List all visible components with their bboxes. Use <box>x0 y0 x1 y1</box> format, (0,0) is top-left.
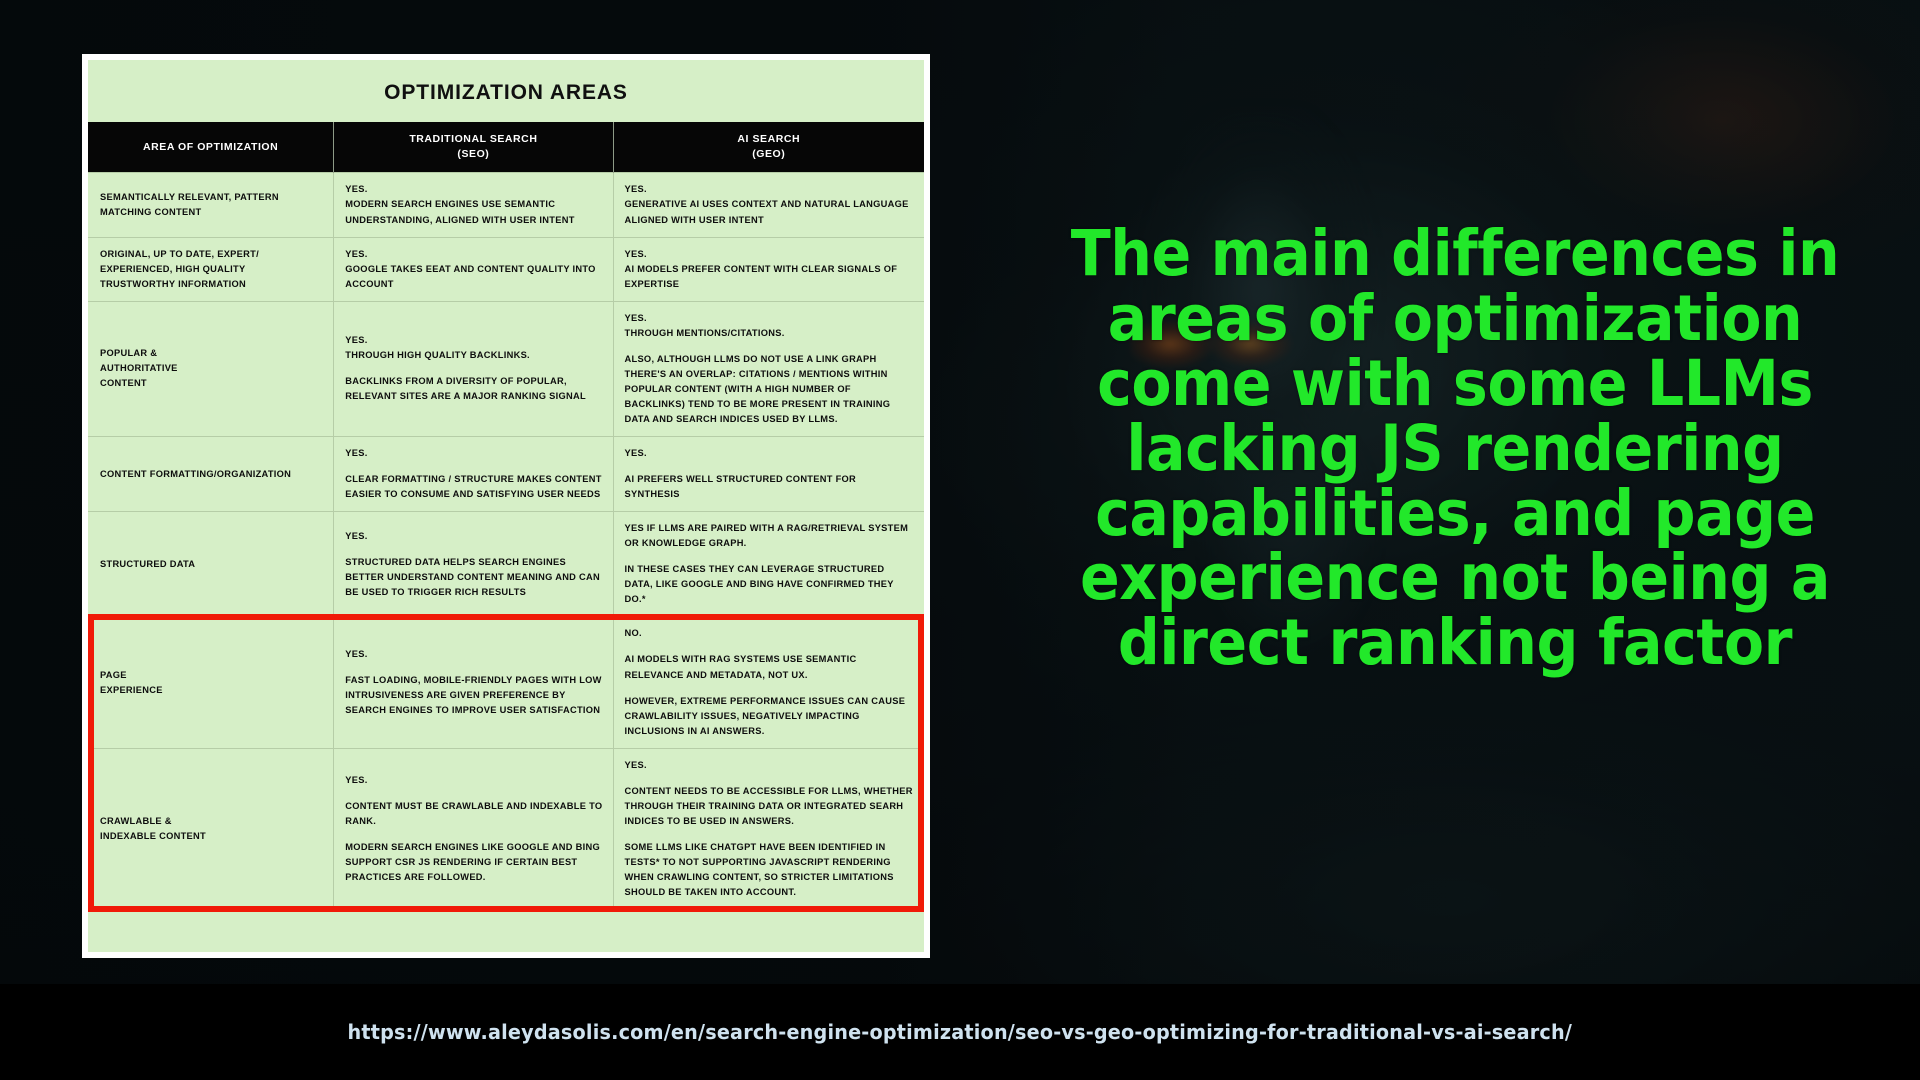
cell-paragraph: YES.THROUGH HIGH QUALITY BACKLINKS. <box>345 333 602 363</box>
row-area-label: PAGEEXPERIENCE <box>88 617 334 748</box>
row-ai-search-cell: YES.AI MODELS PREFER CONTENT WITH CLEAR … <box>613 237 924 301</box>
row-traditional-search-cell: YES.MODERN SEARCH ENGINES USE SEMANTIC U… <box>334 173 613 237</box>
row-traditional-search-cell: YES.STRUCTURED DATA HELPS SEARCH ENGINES… <box>334 512 613 617</box>
row-area-label: CONTENT FORMATTING/ORGANIZATION <box>88 437 334 512</box>
cell-paragraph: AI MODELS WITH RAG SYSTEMS USE SEMANTIC … <box>625 652 915 682</box>
optimization-table-card: OPTIMIZATION AREAS AREA OF OPTIMIZATION … <box>82 54 930 958</box>
row-traditional-search-cell: YES.CONTENT MUST BE CRAWLABLE AND INDEXA… <box>334 748 613 909</box>
row-ai-search-cell: YES.AI PREFERS WELL STRUCTURED CONTENT F… <box>613 437 924 512</box>
row-area-label: CRAWLABLE &INDEXABLE CONTENT <box>88 748 334 909</box>
table-row: PAGEEXPERIENCEYES.FAST LOADING, MOBILE-F… <box>88 617 924 748</box>
table-sheet: OPTIMIZATION AREAS AREA OF OPTIMIZATION … <box>88 60 924 952</box>
cell-paragraph: YES. <box>625 758 915 773</box>
cell-paragraph: YES IF LLMS ARE PAIRED WITH A RAG/RETRIE… <box>625 521 915 551</box>
cell-paragraph: ALSO, ALTHOUGH LLMS DO NOT USE A LINK GR… <box>625 352 915 427</box>
row-area-label: SEMANTICALLY RELEVANT, PATTERN MATCHING … <box>88 173 334 237</box>
column-header-label: TRADITIONAL SEARCH <box>409 133 537 145</box>
cell-paragraph: AI PREFERS WELL STRUCTURED CONTENT FOR S… <box>625 472 915 502</box>
cell-paragraph: STRUCTURED DATA HELPS SEARCH ENGINES BET… <box>345 555 602 600</box>
column-header-area: AREA OF OPTIMIZATION <box>88 122 334 173</box>
row-ai-search-cell: YES IF LLMS ARE PAIRED WITH A RAG/RETRIE… <box>613 512 924 617</box>
table-row: POPULAR &AUTHORITATIVECONTENTYES.THROUGH… <box>88 301 924 436</box>
headline-text: The main differences in areas of optimiz… <box>1032 222 1878 676</box>
row-area-label: ORIGINAL, UP TO DATE, EXPERT/ EXPERIENCE… <box>88 237 334 301</box>
row-traditional-search-cell: YES.FAST LOADING, MOBILE-FRIENDLY PAGES … <box>334 617 613 748</box>
cell-paragraph: YES. <box>345 529 602 544</box>
cell-paragraph: MODERN SEARCH ENGINES LIKE GOOGLE AND BI… <box>345 840 602 885</box>
cell-paragraph: YES.AI MODELS PREFER CONTENT WITH CLEAR … <box>625 247 915 292</box>
row-ai-search-cell: YES.GENERATIVE AI USES CONTEXT AND NATUR… <box>613 173 924 237</box>
table-title: OPTIMIZATION AREAS <box>88 60 924 122</box>
row-area-label: STRUCTURED DATA <box>88 512 334 617</box>
row-ai-search-cell: YES.THROUGH MENTIONS/CITATIONS.ALSO, ALT… <box>613 301 924 436</box>
cell-paragraph: HOWEVER, EXTREME PERFORMANCE ISSUES CAN … <box>625 694 915 739</box>
cell-paragraph: CLEAR FORMATTING / STRUCTURE MAKES CONTE… <box>345 472 602 502</box>
cell-paragraph: YES. <box>625 446 915 461</box>
cell-paragraph: NO. <box>625 626 915 641</box>
cell-paragraph: CONTENT MUST BE CRAWLABLE AND INDEXABLE … <box>345 799 602 829</box>
cell-paragraph: YES.GOOGLE TAKES EEAT AND CONTENT QUALIT… <box>345 247 602 292</box>
cell-paragraph: FAST LOADING, MOBILE-FRIENDLY PAGES WITH… <box>345 673 602 718</box>
row-traditional-search-cell: YES.GOOGLE TAKES EEAT AND CONTENT QUALIT… <box>334 237 613 301</box>
row-ai-search-cell: NO.AI MODELS WITH RAG SYSTEMS USE SEMANT… <box>613 617 924 748</box>
cell-paragraph: YES.MODERN SEARCH ENGINES USE SEMANTIC U… <box>345 182 602 227</box>
cell-paragraph: YES. <box>345 446 602 461</box>
cell-paragraph: YES.GENERATIVE AI USES CONTEXT AND NATUR… <box>625 182 915 227</box>
optimization-areas-table: AREA OF OPTIMIZATION TRADITIONAL SEARCH … <box>88 122 924 909</box>
table-body: SEMANTICALLY RELEVANT, PATTERN MATCHING … <box>88 173 924 909</box>
footer-bar: https://www.aleydasolis.com/en/search-en… <box>0 984 1920 1080</box>
table-row: CONTENT FORMATTING/ORGANIZATIONYES.CLEAR… <box>88 437 924 512</box>
column-header-sublabel: (SEO) <box>457 148 489 160</box>
cell-paragraph: YES.THROUGH MENTIONS/CITATIONS. <box>625 311 915 341</box>
row-ai-search-cell: YES.CONTENT NEEDS TO BE ACCESSIBLE FOR L… <box>613 748 924 909</box>
table-row: ORIGINAL, UP TO DATE, EXPERT/ EXPERIENCE… <box>88 237 924 301</box>
row-traditional-search-cell: YES.CLEAR FORMATTING / STRUCTURE MAKES C… <box>334 437 613 512</box>
column-header-sublabel: (GEO) <box>752 148 785 160</box>
column-header-label: AREA OF OPTIMIZATION <box>143 141 278 153</box>
source-url[interactable]: https://www.aleydasolis.com/en/search-en… <box>348 1020 1573 1044</box>
cell-paragraph: BACKLINKS FROM A DIVERSITY OF POPULAR, R… <box>345 374 602 404</box>
column-header-traditional-search: TRADITIONAL SEARCH (SEO) <box>334 122 613 173</box>
column-header-label: AI SEARCH <box>737 133 800 145</box>
cell-paragraph: SOME LLMS LIKE CHATGPT HAVE BEEN IDENTIF… <box>625 840 915 900</box>
cell-paragraph: IN THESE CASES THEY CAN LEVERAGE STRUCTU… <box>625 562 915 607</box>
table-row: SEMANTICALLY RELEVANT, PATTERN MATCHING … <box>88 173 924 237</box>
cell-paragraph: YES. <box>345 647 602 662</box>
table-header-row: AREA OF OPTIMIZATION TRADITIONAL SEARCH … <box>88 122 924 173</box>
cell-paragraph: CONTENT NEEDS TO BE ACCESSIBLE FOR LLMS,… <box>625 784 915 829</box>
row-area-label: POPULAR &AUTHORITATIVECONTENT <box>88 301 334 436</box>
cell-paragraph: YES. <box>345 773 602 788</box>
column-header-ai-search: AI SEARCH (GEO) <box>613 122 924 173</box>
table-row: STRUCTURED DATAYES.STRUCTURED DATA HELPS… <box>88 512 924 617</box>
table-row: CRAWLABLE &INDEXABLE CONTENTYES.CONTENT … <box>88 748 924 909</box>
row-traditional-search-cell: YES.THROUGH HIGH QUALITY BACKLINKS.BACKL… <box>334 301 613 436</box>
